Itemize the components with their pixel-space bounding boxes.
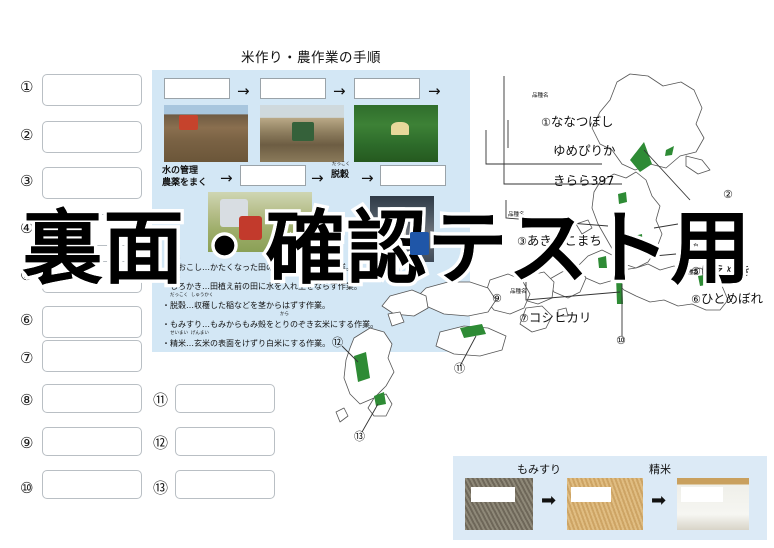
answer-mask-genmai[interactable] <box>571 487 611 502</box>
ruby-note-2: た <box>176 275 181 280</box>
answer-input-9[interactable] <box>42 427 142 456</box>
map-callout-9: ⑨ <box>492 292 502 306</box>
process-label-momisuri: もみすり <box>517 461 561 477</box>
answer-number-8: ⑧ <box>20 393 33 408</box>
map-callout-marker-13: ⑬ <box>354 430 365 443</box>
step-label-water-management: 水の管理 <box>162 166 198 176</box>
photo-momi <box>465 478 533 530</box>
answer-mask-momi[interactable] <box>471 487 515 502</box>
answer-input-5[interactable] <box>42 261 142 293</box>
map-callout-7: 品種名 ⑦コシヒカリ <box>498 262 591 339</box>
map-callout-marker-7: ⑦ <box>519 312 529 325</box>
answer-number-11: ⑪ <box>153 393 168 408</box>
worksheet-page: ① ② ③ ④ ⑤ ⑥ ⑦ ⑧ ⑨ ⑩ ⑪ ⑫ ⑬ 米作り・農作業の手順 → <box>0 0 774 548</box>
answer-input-4[interactable] <box>42 214 142 246</box>
photo-genmai <box>567 478 643 530</box>
photo-harvesting <box>208 192 312 252</box>
step-input-1[interactable] <box>164 78 230 99</box>
step-input-4[interactable] <box>240 165 306 186</box>
map-callout-13: ⑬ <box>354 430 365 444</box>
answer-input-2[interactable] <box>42 121 142 153</box>
map-callout-6: 品種名 ⑥ひとめぼれ <box>670 243 763 320</box>
answer-number-13: ⑬ <box>153 481 168 496</box>
answer-number-7: ⑦ <box>20 351 33 366</box>
photo-field-plowing <box>164 105 248 162</box>
map-callout-10: ⑩ <box>616 334 626 348</box>
step-input-2[interactable] <box>260 78 326 99</box>
map-callout-marker-6: ⑥ <box>691 293 701 306</box>
answer-number-5: ⑤ <box>20 268 33 283</box>
ruby-note-4: から <box>280 313 289 318</box>
ruby-note-3: だっこく しゅうかく <box>170 294 213 299</box>
answer-input-1[interactable] <box>42 74 142 106</box>
answer-number-9: ⑨ <box>20 436 33 451</box>
map-callout-8: ⑧ <box>730 260 740 274</box>
japan-map: 品種名 ①ななつぼし ゆめぴりか きらら397 ② 品種名 ③あきたこまち 品種… <box>330 60 774 485</box>
map-callout-2: ② <box>702 174 733 215</box>
note-line-3: ・脱穀…収穫した稲などを茎からはずす作業。 <box>162 301 330 310</box>
hinshumei-label-1: 品種名 <box>532 94 616 100</box>
answer-input-8[interactable] <box>42 384 142 413</box>
map-callout-11: ⑪ <box>454 362 465 376</box>
answer-number-6: ⑥ <box>20 313 33 328</box>
answer-input-11[interactable] <box>175 384 275 413</box>
answer-mask-hakumai[interactable] <box>681 487 723 502</box>
ruby-note-5: せいまい げんまい <box>170 332 209 337</box>
answer-input-10[interactable] <box>42 470 142 499</box>
map-callout-3: 品種名 ③あきたこまち <box>496 185 602 262</box>
hinshumei-label-7: 品種名 <box>510 290 591 296</box>
map-callout-marker-1: ① <box>541 116 551 129</box>
hinshumei-label-3: 品種名 <box>508 213 602 219</box>
map-callout-marker-2: ② <box>723 188 733 201</box>
variety-name-6: ひとめぼれ <box>701 291 763 306</box>
milling-process-panel: もみすり 精米 ➡ ➡ <box>453 456 767 540</box>
note-line-1: ・田おこし…かたくなった田の土をほりおこす作業。 <box>162 263 354 272</box>
answer-input-13[interactable] <box>175 470 275 499</box>
map-callout-marker-12: ⑫ <box>332 336 343 349</box>
answer-number-2: ② <box>20 128 33 143</box>
answer-input-6[interactable] <box>42 306 142 338</box>
note-line-5: ・精米…玄米の表面をけずり白米にする作業。 <box>162 339 330 348</box>
hinshumei-label-6: 品種名 <box>682 271 763 277</box>
arrow-icon-4: → <box>220 171 233 186</box>
variety-name-1b: ゆめぴりか <box>553 143 616 158</box>
variety-name-1a: ななつぼし <box>551 114 614 129</box>
answer-number-10: ⑩ <box>20 481 33 496</box>
photo-hakumai <box>677 478 749 530</box>
process-label-seimai: 精米 <box>649 461 671 477</box>
map-callout-1: 品種名 ①ななつぼし ゆめぴりか きらら397 <box>520 66 616 202</box>
answer-input-12[interactable] <box>175 427 275 456</box>
answer-number-3: ③ <box>20 174 33 189</box>
map-callout-12: ⑫ <box>332 336 343 350</box>
map-callout-marker-3: ③ <box>517 235 527 248</box>
arrow-icon-1: → <box>237 84 250 99</box>
step-label-pesticide: 農薬をまく <box>162 178 207 188</box>
answer-number-1: ① <box>20 80 33 95</box>
answer-input-7[interactable] <box>42 340 142 372</box>
answer-input-3[interactable] <box>42 167 142 199</box>
map-callout-marker-9: ⑨ <box>492 292 502 305</box>
map-callout-marker-10: ⑩ <box>616 334 626 347</box>
arrow-icon-momisuri: ➡ <box>541 492 556 510</box>
map-callout-marker-11: ⑪ <box>454 362 465 375</box>
variety-name-3: あきたこまち <box>527 233 602 248</box>
variety-name-7: コシヒカリ <box>529 310 592 325</box>
answer-number-12: ⑫ <box>153 436 168 451</box>
map-callout-marker-8: ⑧ <box>730 260 740 273</box>
arrow-icon-5: → <box>311 171 324 186</box>
ruby-note-1: た <box>176 256 181 261</box>
answer-number-4: ④ <box>20 221 33 236</box>
arrow-icon-seimai: ➡ <box>651 492 666 510</box>
